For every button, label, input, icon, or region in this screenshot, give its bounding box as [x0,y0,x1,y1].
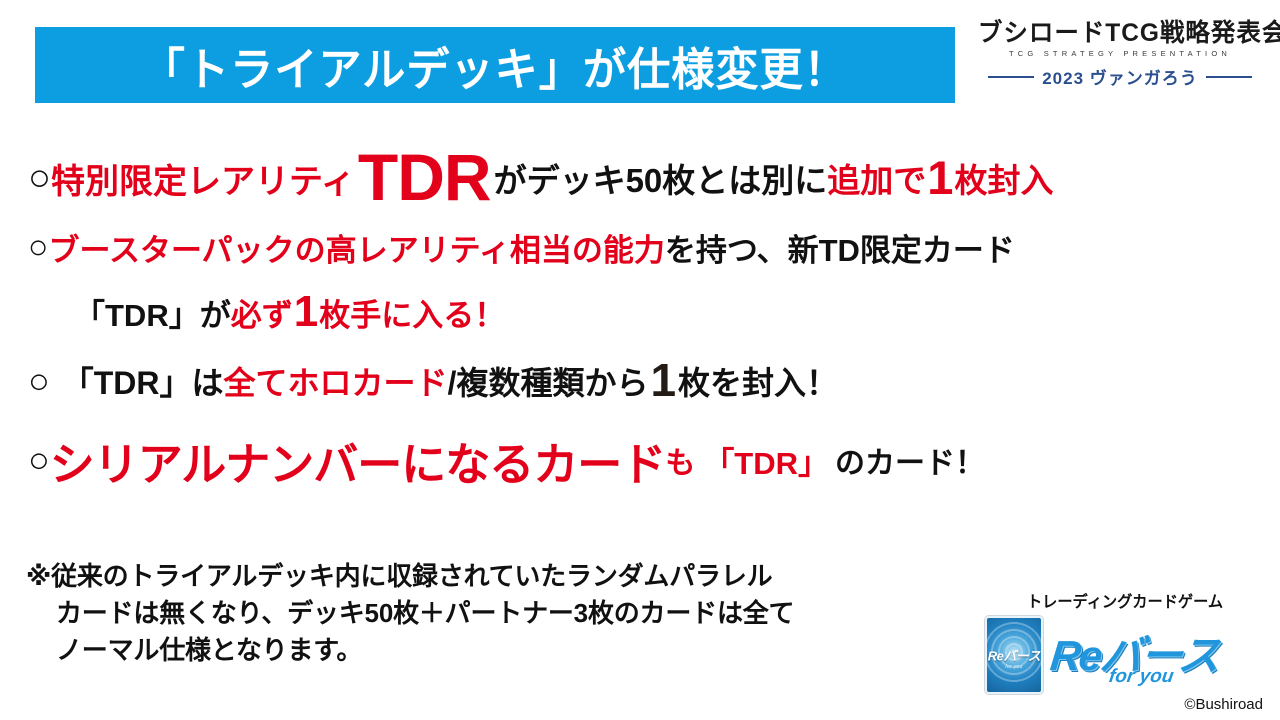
event-logo-year: 2023 ヴァンガろう [1042,64,1198,89]
footnote: ※従来のトライアルデッキ内に収録されていたランダムパラレル カードは無くなり、デ… [26,558,976,669]
bullet-item-3: ○ 「TDR」は 全てホロカード /複数種類から 1 枚を封入！ [28,346,1264,416]
bullet-1-segment-c: 追加で [827,154,926,202]
bullet-1-segment-a: 特別限定レアリティ [51,154,355,203]
bullet-4-tdr: 「TDR」 [695,438,829,483]
event-logo: ブシロードTCG戦略発表会 TCG STRATEGY PRESENTATION … [975,20,1265,89]
bullet-3-segment-a: 「TDR」は [50,358,224,404]
bullet-1-number: 1 [926,157,954,199]
brand-wordmark-sub: for you [1107,666,1174,688]
page-title: 「トライアルデッキ」が仕様変更！ [142,33,848,98]
bullet-marker-icon: ○ [28,157,51,200]
slide-root: ブシロードTCG戦略発表会 TCG STRATEGY PRESENTATION … [0,0,1280,720]
event-logo-year-row: 2023 ヴァンガろう [975,64,1265,89]
copyright-notice: ©Bushiroad [985,696,1265,713]
bullet-4-segment-a: シリアルナンバーになるカード [50,428,666,493]
bullet-3-segment-d: 枚を封入！ [678,358,838,404]
bullet-1-segment-b: がデッキ50枚とは別に [494,154,828,202]
brand-logo-row: Reバース for you Reバース for you [985,616,1265,694]
card-icon-sub: for you [987,664,1041,670]
rule-left-icon [988,76,1034,78]
bullet-4-segment-d: のカード！ [829,438,985,482]
footnote-row-1: ※従来のトライアルデッキ内に収録されていたランダムパラレル [26,558,976,595]
bullet-3-segment-b: 全てホロカード [224,358,448,404]
bullet-marker-icon: ○ [28,228,49,267]
event-logo-subtitle: TCG STRATEGY PRESENTATION [975,49,1265,58]
card-icon: Reバース for you [985,616,1043,694]
event-logo-title: ブシロードTCG戦略発表会 [978,20,1262,46]
bullet-2-segment-a: ブースターパックの高レアリティ相当の能力 [49,225,665,270]
bullet-3-number: 1 [648,360,678,401]
bullet-2-segment-b: を持つ、新TD限定カード [665,225,1015,270]
bullet-item-4: ○ シリアルナンバーになるカード も 「TDR」 のカード！ [28,424,1264,496]
bullet-4-segment-b: も [665,438,695,482]
bullet-item-1: ○ 特別限定レアリティ TDR がデッキ50枚とは別に 追加で 1 枚封入 [28,140,1264,216]
bullet-marker-icon: ○ [28,439,50,481]
bullet-list: ○ 特別限定レアリティ TDR がデッキ50枚とは別に 追加で 1 枚封入 ○ … [28,140,1264,496]
bullet-item-2: ○ ブースターパックの高レアリティ相当の能力 を持つ、新TD限定カード [28,216,1264,278]
bullet-2-wrap-segment-c: 枚手に入る！ [319,290,505,335]
card-icon-mark: Reバース [987,646,1041,665]
brand-wordmark: Reバース for you [1051,618,1265,692]
bullet-1-tdr: TDR [355,148,494,207]
bullet-marker-icon: ○ [28,360,50,402]
bullet-item-2-wrap: 「TDR」が 必ず 1 枚手に入る！ [28,278,1264,346]
brand-caption: トレーディングカードゲーム [992,588,1258,612]
footnote-row-3: ノーマル仕様となります。 [26,632,976,669]
bullet-2-wrap-segment-b: 必ず [231,290,293,335]
footnote-row-2: カードは無くなり、デッキ50枚＋パートナー3枚のカードは全て [26,595,976,632]
title-banner: 「トライアルデッキ」が仕様変更！ [35,27,955,103]
bullet-1-segment-d: 枚封入 [954,154,1053,202]
bullet-3-segment-c: /複数種類から [448,358,649,404]
bullet-2-wrap-number: 1 [293,292,319,332]
brand-block: トレーディングカードゲーム Reバース for you Reバース for yo… [985,588,1265,713]
bullet-2-wrap-segment-a: 「TDR」が [74,290,231,335]
rule-right-icon [1206,76,1252,78]
